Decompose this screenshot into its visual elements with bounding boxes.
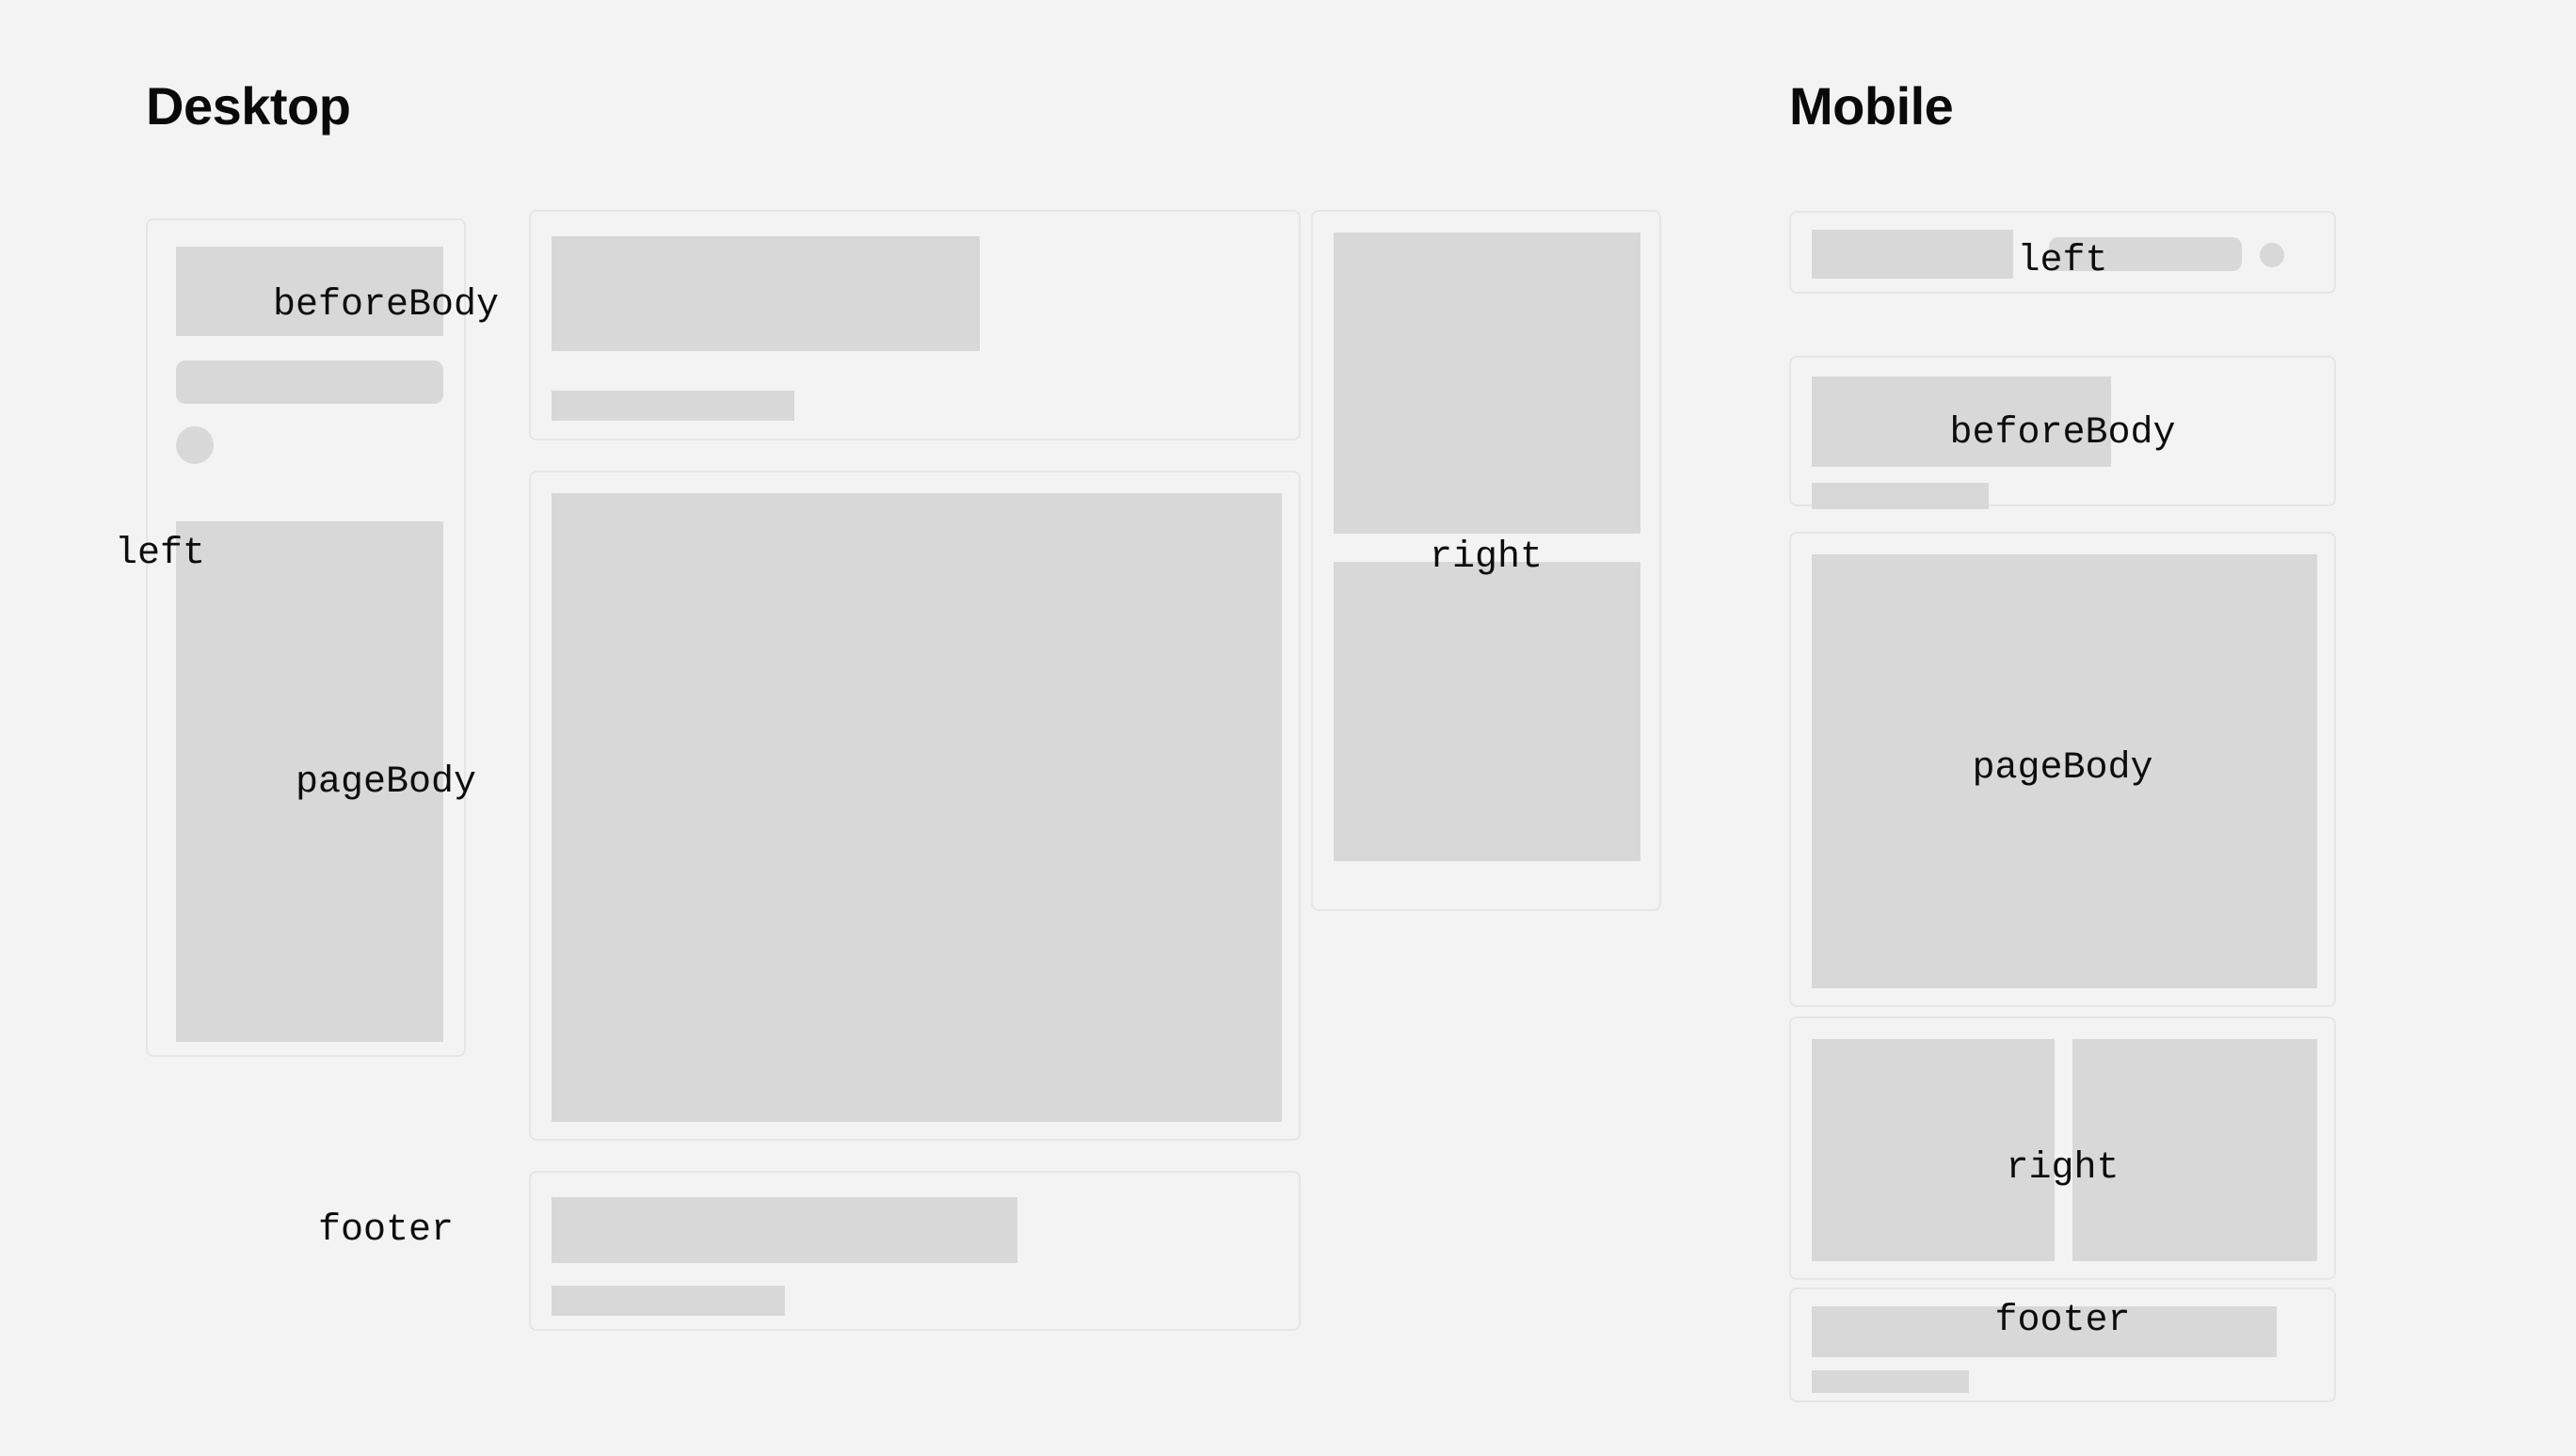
skeleton-block bbox=[2072, 1039, 2317, 1261]
mobile-beforebody-region-panel[interactable] bbox=[1789, 356, 2336, 506]
desktop-beforebody-region-panel[interactable] bbox=[529, 210, 1301, 440]
skeleton-block bbox=[552, 391, 794, 421]
skeleton-block bbox=[176, 247, 443, 336]
mobile-left-region-panel[interactable] bbox=[1789, 211, 2336, 294]
mobile-pagebody-region-panel[interactable] bbox=[1789, 532, 2336, 1007]
skeleton-block bbox=[552, 236, 980, 351]
skeleton-block bbox=[1812, 376, 2111, 467]
skeleton-block bbox=[1812, 1039, 2055, 1261]
skeleton-block bbox=[552, 493, 1282, 1122]
skeleton-block bbox=[1334, 232, 1640, 534]
desktop-right-region-panel[interactable] bbox=[1311, 210, 1661, 911]
mobile-right-region-panel[interactable] bbox=[1789, 1016, 2336, 1280]
desktop-pagebody-region-panel[interactable] bbox=[529, 471, 1301, 1141]
skeleton-avatar-circle bbox=[2260, 243, 2284, 267]
skeleton-block bbox=[1334, 562, 1640, 861]
wireframe-comparison-canvas: Desktop left beforeBody pageBody footer … bbox=[0, 0, 2576, 1456]
skeleton-block bbox=[1812, 1370, 1969, 1393]
skeleton-block bbox=[1812, 483, 1989, 509]
skeleton-block bbox=[2049, 237, 2242, 271]
desktop-footer-region-panel[interactable] bbox=[529, 1171, 1301, 1331]
desktop-column-heading: Desktop bbox=[146, 80, 350, 133]
mobile-column-heading: Mobile bbox=[1789, 80, 1953, 133]
skeleton-block bbox=[1812, 230, 2013, 279]
skeleton-block bbox=[1812, 554, 2317, 988]
skeleton-block bbox=[552, 1197, 1017, 1263]
skeleton-avatar-circle bbox=[176, 426, 214, 464]
skeleton-block bbox=[176, 521, 443, 1042]
mobile-footer-region-panel[interactable] bbox=[1789, 1288, 2336, 1402]
skeleton-block bbox=[552, 1286, 785, 1316]
skeleton-block bbox=[176, 360, 443, 404]
desktop-left-region-panel[interactable] bbox=[146, 218, 466, 1057]
skeleton-block bbox=[1812, 1306, 2277, 1357]
